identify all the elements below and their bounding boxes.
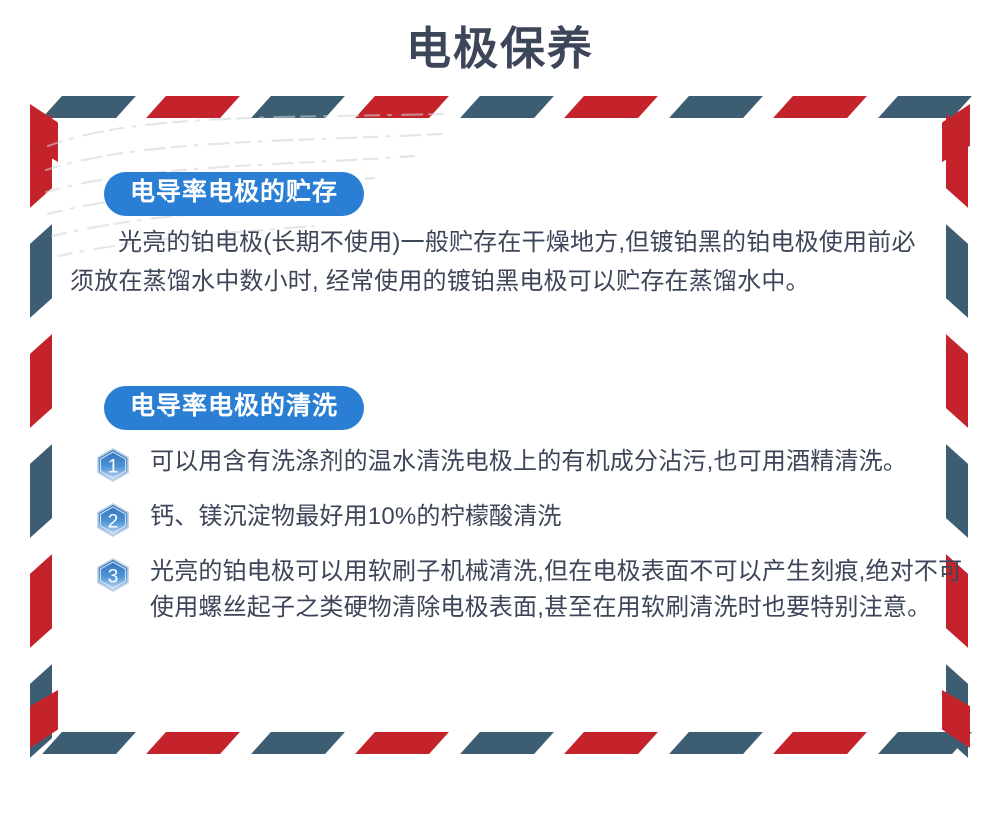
svg-text:2: 2	[108, 512, 119, 533]
step-number-hexagon-icon: 2	[96, 503, 130, 537]
section-label-cleaning: 电导率电极的清洗	[104, 386, 364, 430]
step-number-hexagon-icon: 1	[96, 448, 130, 482]
cleaning-step-item: 2 钙、镁沉淀物最好用10%的柠檬酸清洗	[96, 499, 966, 537]
cleaning-step-text: 钙、镁沉淀物最好用10%的柠檬酸清洗	[150, 499, 966, 535]
frame-edge-left	[30, 96, 54, 756]
svg-text:3: 3	[108, 567, 119, 588]
section-label-storage: 电导率电极的贮存	[104, 172, 364, 216]
svg-text:1: 1	[108, 457, 119, 478]
frame-left-dash	[30, 334, 52, 428]
content-area: 电导率电极的贮存 光亮的铂电极(长期不使用)一般贮存在干燥地方,但镀铂黑的铂电极…	[70, 96, 950, 756]
storage-paragraph: 光亮的铂电极(长期不使用)一般贮存在干燥地方,但镀铂黑的铂电极使用前必须放在蒸馏…	[70, 223, 932, 301]
step-number-hexagon-icon: 3	[96, 558, 130, 592]
cleaning-step-item: 1 可以用含有洗涤剂的温水清洗电极上的有机成分沾污,也可用酒精清洗。	[96, 444, 966, 482]
frame-left-dash	[30, 444, 52, 538]
cleaning-step-text: 可以用含有洗涤剂的温水清洗电极上的有机成分沾污,也可用酒精清洗。	[150, 444, 966, 480]
frame-left-dash	[30, 224, 52, 318]
cleaning-step-item: 3 光亮的铂电极可以用软刷子机械清洗,但在电极表面不可以产生刻痕,绝对不可使用螺…	[96, 554, 966, 626]
page-title: 电极保养	[0, 22, 1000, 76]
cleaning-steps-list: 1 可以用含有洗涤剂的温水清洗电极上的有机成分沾污,也可用酒精清洗。 2 钙、镁…	[96, 444, 966, 643]
frame-left-dash	[30, 554, 52, 648]
cleaning-step-text: 光亮的铂电极可以用软刷子机械清洗,但在电极表面不可以产生刻痕,绝对不可使用螺丝起…	[150, 554, 966, 626]
